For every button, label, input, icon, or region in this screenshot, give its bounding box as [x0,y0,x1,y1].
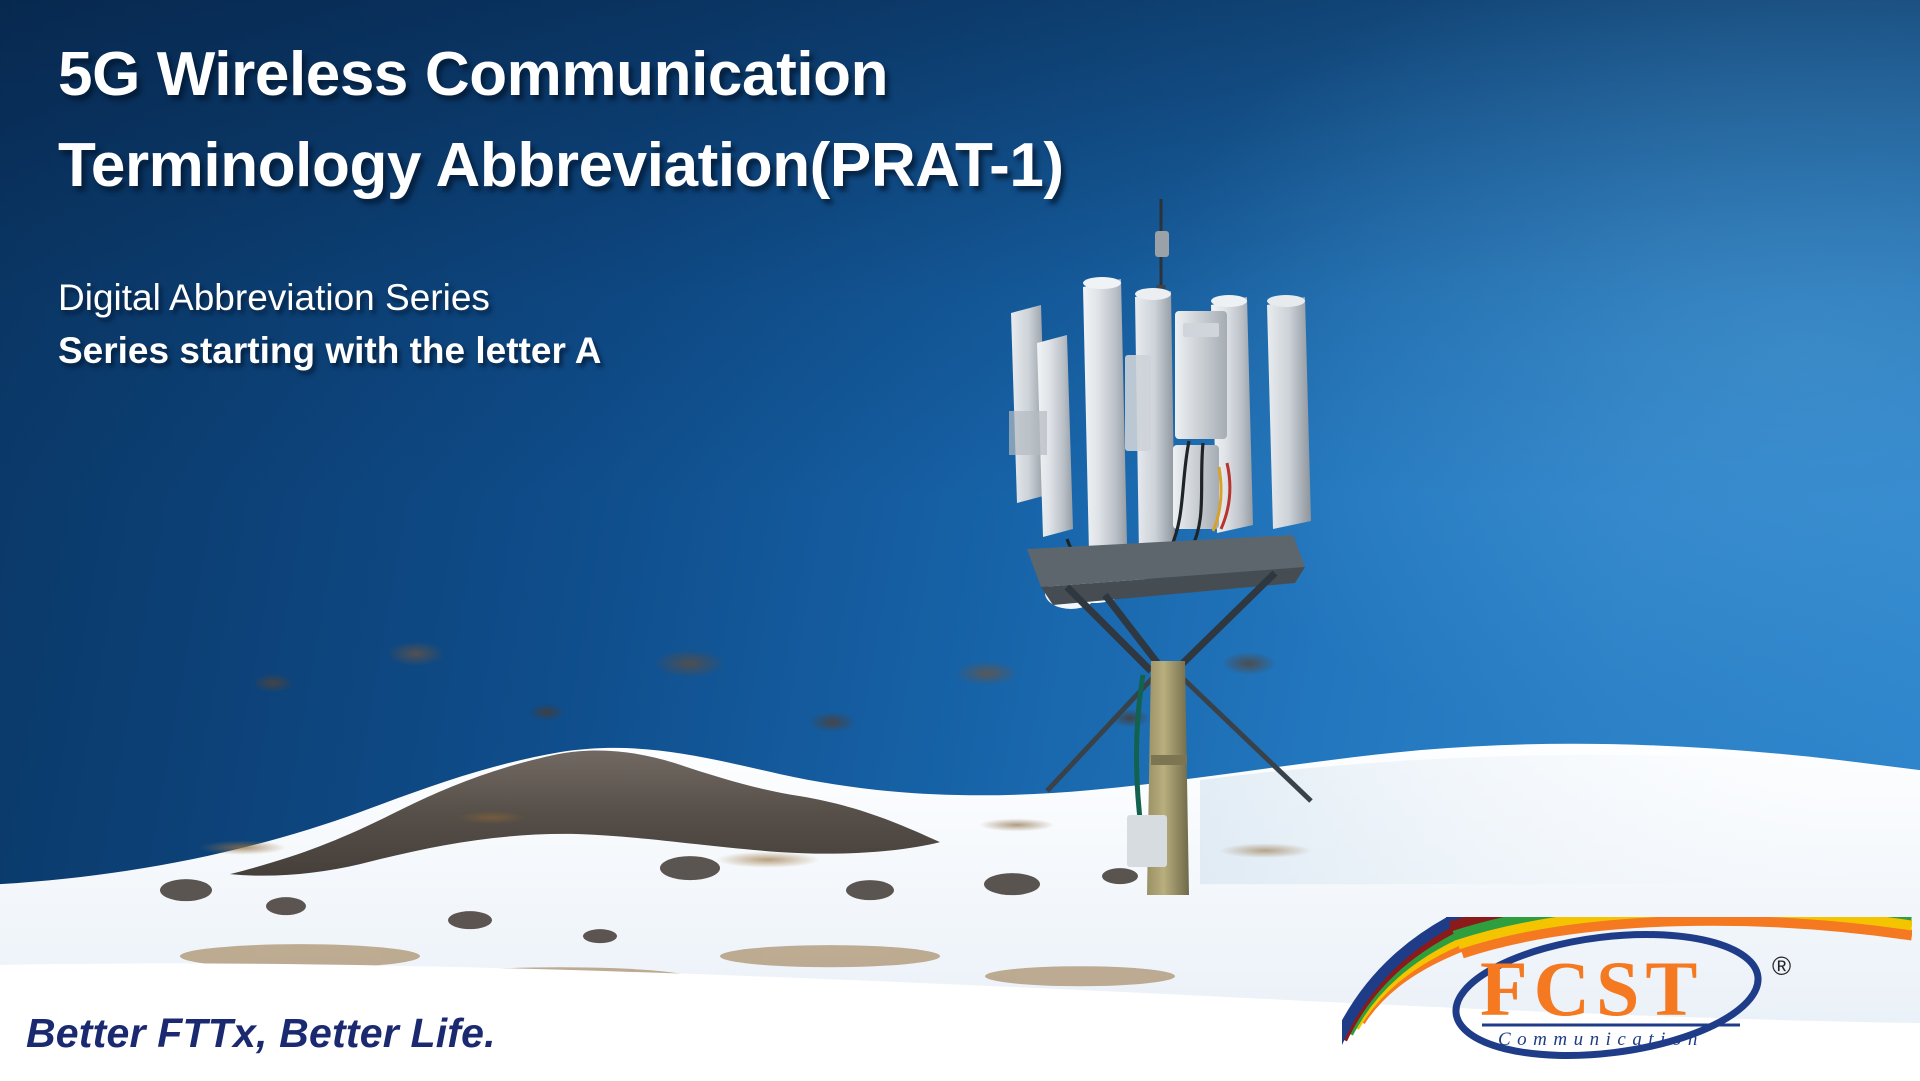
fcst-logo[interactable]: FCST Communication ® [1342,917,1912,1077]
registered-trademark-icon: ® [1772,951,1791,981]
logo-wordmark: FCST [1480,945,1703,1032]
antenna-panel-group-left [1009,305,1073,537]
logo-subtext: Communication [1498,1029,1704,1050]
subtitle-block: Digital Abbreviation Series Series start… [58,272,601,378]
slide-canvas: 5G Wireless Communication Terminology Ab… [0,0,1920,1081]
page-title: 5G Wireless Communication Terminology Ab… [58,30,1258,211]
subtitle-line-1: Digital Abbreviation Series [58,272,601,325]
small-antenna-box [1155,231,1169,257]
pole-band [1151,755,1187,765]
subtitle-line-2: Series starting with the letter A [58,325,601,378]
antenna-panel-group-center-left [1083,277,1127,553]
cell-tower-illustration [975,195,1395,895]
tagline: Better FTTx, Better Life. [26,1010,496,1057]
base-cabinet [1127,815,1167,867]
